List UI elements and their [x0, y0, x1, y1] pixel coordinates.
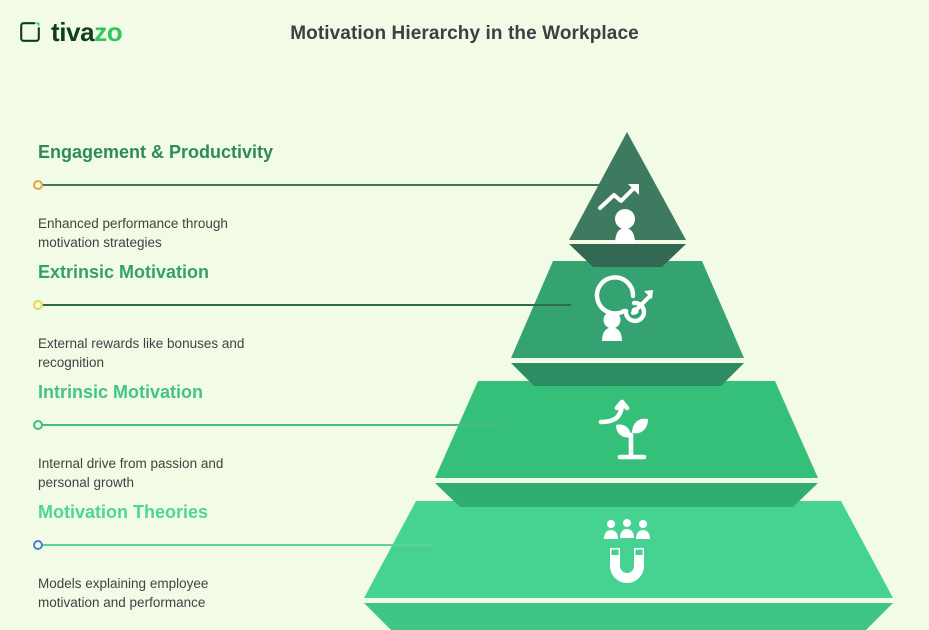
legend-line-1: [42, 184, 628, 186]
sprout-growth-icon: [601, 402, 648, 457]
legend-item-motivation-theories[interactable]: Motivation Theories Models explaining em…: [38, 503, 558, 613]
person-target-dart-icon: [597, 277, 653, 341]
pyramid-tier-1-base: [569, 244, 686, 267]
person-growth-arrow-icon: [600, 184, 639, 244]
legend-connector-4: [33, 539, 433, 551]
legend-item-title: Extrinsic Motivation: [38, 263, 558, 283]
pyramid-tier-1[interactable]: [569, 132, 686, 267]
legend-dot-2: [33, 300, 43, 310]
legend-item-title: Engagement & Productivity: [38, 143, 558, 163]
legend-dot-1: [33, 180, 43, 190]
magnet-people-icon: [604, 519, 650, 583]
legend-item-description: External rewards like bonuses and recogn…: [38, 334, 558, 373]
legend-item-engagement-productivity[interactable]: Engagement & Productivity Enhanced perfo…: [38, 143, 558, 253]
legend-item-intrinsic-motivation[interactable]: Intrinsic Motivation Internal drive from…: [38, 383, 558, 493]
legend-connector-2: [33, 299, 571, 311]
legend-connector-3: [33, 419, 501, 431]
legend-item-extrinsic-motivation[interactable]: Extrinsic Motivation External rewards li…: [38, 263, 558, 373]
legend-item-title: Motivation Theories: [38, 503, 558, 523]
legend-connector-1: [33, 179, 628, 191]
legend-line-3: [42, 424, 501, 426]
legend-line-4: [42, 544, 433, 546]
legend-item-description: Enhanced performance through motivation …: [38, 214, 558, 253]
legend-item-title: Intrinsic Motivation: [38, 383, 558, 403]
legend-line-2: [42, 304, 571, 306]
legend-dot-4: [33, 540, 43, 550]
legend-item-description: Internal drive from passion and personal…: [38, 454, 558, 493]
legend-dot-3: [33, 420, 43, 430]
hierarchy-legend: Engagement & Productivity Enhanced perfo…: [0, 0, 560, 630]
legend-item-description: Models explaining employee motivation an…: [38, 574, 558, 613]
